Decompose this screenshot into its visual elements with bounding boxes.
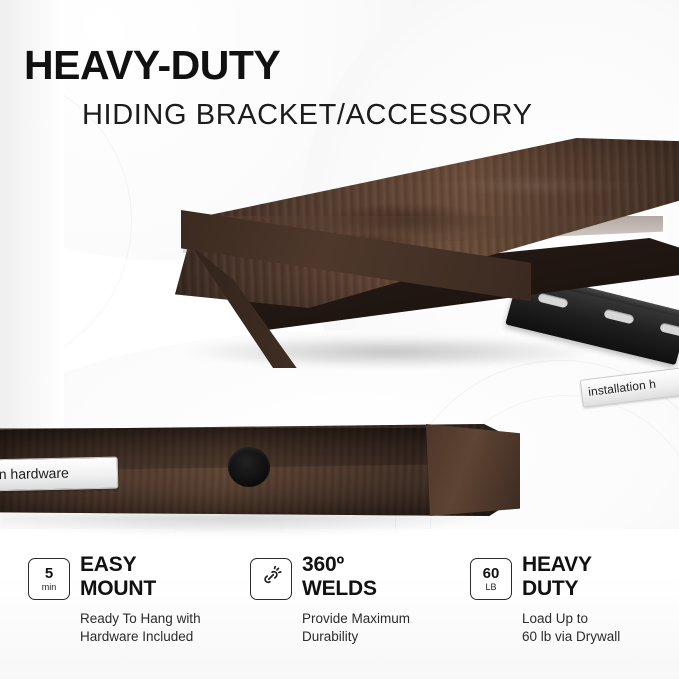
- closeup-product-photo: on hardware: [0, 418, 520, 528]
- product-infographic: HEAVY-DUTY HIDING BRACKET/ACCESSORY inst…: [0, 0, 679, 679]
- feature-360-welds: 360º WELDS Provide Maximum Durability: [250, 552, 465, 656]
- closeup-shelf-endcap: [420, 424, 520, 516]
- feature-heavy-duty: 60 LB HEAVY DUTY Load Up to 60 lb via Dr…: [470, 552, 679, 656]
- installation-hardware-label: installation h: [580, 366, 679, 407]
- feature-row: 5 min EASY MOUNT Ready To Hang with Hard…: [0, 552, 679, 662]
- installation-hardware-label-text: installation h: [581, 367, 679, 399]
- feature-badge-value: 60: [483, 566, 500, 582]
- feature-description: Ready To Hang with Hardware Included: [80, 610, 201, 646]
- feature-description: Provide Maximum Durability: [302, 610, 410, 646]
- feature-badge-unit: LB: [485, 583, 496, 592]
- bracket-mounting-hole: [228, 447, 270, 487]
- closeup-hardware-label: on hardware: [0, 457, 118, 492]
- wood-shelf: [175, 138, 679, 368]
- feature-badge-time: 5 min: [28, 558, 70, 600]
- feature-easy-mount: 5 min EASY MOUNT Ready To Hang with Hard…: [28, 552, 243, 656]
- closeup-drop-shadow: [0, 514, 510, 536]
- feature-description: Load Up to 60 lb via Drywall: [522, 610, 620, 646]
- page-subtitle: HIDING BRACKET/ACCESSORY: [82, 99, 533, 132]
- feature-badge-weight: 60 LB: [470, 558, 512, 600]
- weld-link-icon: [260, 566, 282, 593]
- page-title: HEAVY-DUTY: [24, 42, 280, 89]
- feature-badge-welds: [250, 558, 292, 600]
- feature-title: EASY MOUNT: [80, 553, 156, 600]
- feature-title: HEAVY DUTY: [522, 553, 592, 600]
- feature-title: 360º WELDS: [302, 553, 377, 600]
- hero-product-photo: installation h: [0, 130, 679, 410]
- feature-badge-value: 5: [45, 566, 53, 582]
- feature-badge-unit: min: [42, 583, 57, 592]
- closeup-hardware-label-text: on hardware: [0, 458, 117, 483]
